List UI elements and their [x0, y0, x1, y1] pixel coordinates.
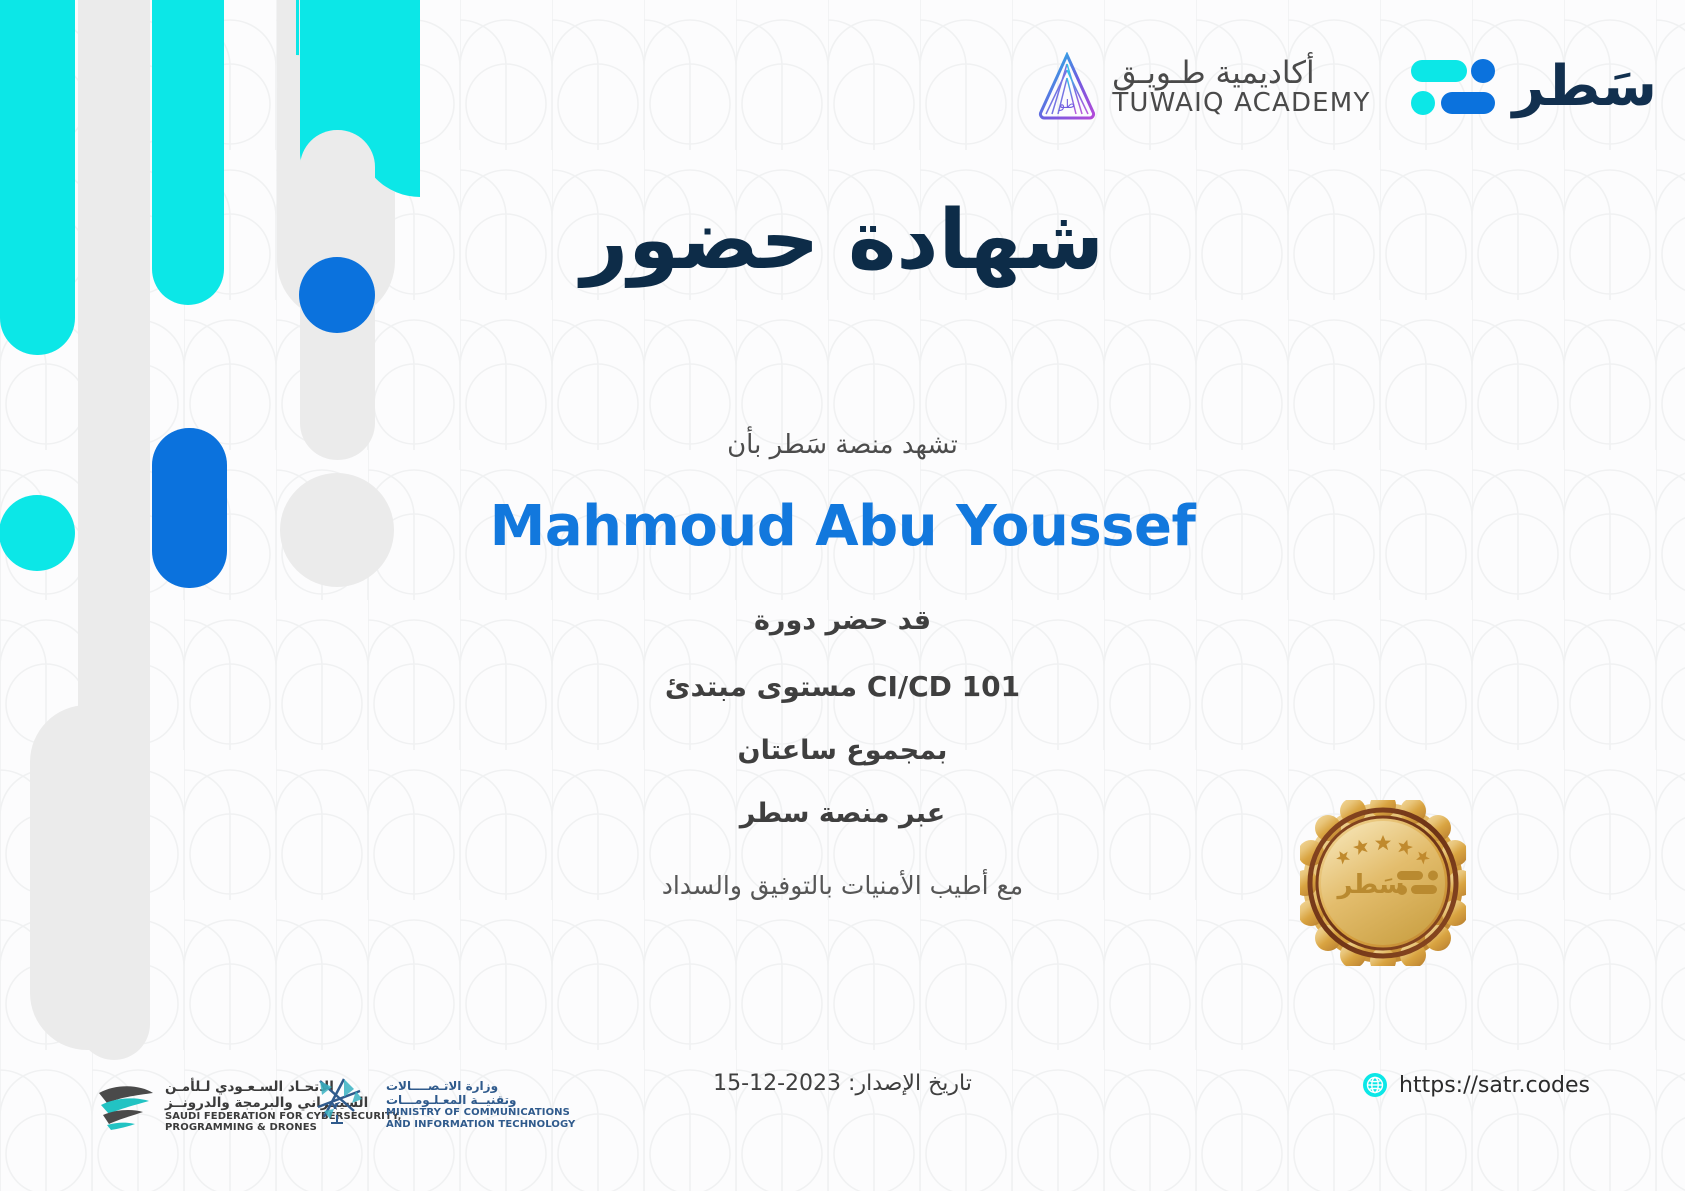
globe-icon [1362, 1072, 1388, 1098]
tuwaiq-english-name: TUWAIQ ACADEMY [1112, 90, 1370, 117]
satr-logo-wordmark: سَطر [1513, 59, 1657, 115]
site-link[interactable]: https://satr.codes [1362, 1072, 1590, 1098]
intro-line: تشهد منصة سَطر بأن [0, 430, 1685, 460]
federation-en-line2: PROGRAMMING & DRONES [165, 1122, 317, 1133]
course-name: CI/CD 101 مستوى مبتدئ [0, 670, 1685, 703]
tuwaiq-shield-emblem: طو [1036, 52, 1098, 122]
tuwaiq-academy-logo: أكاديمية طـويـق TUWAIQ ACADEMY [1036, 52, 1370, 122]
page-title-text: شهادة حضور [0, 196, 1685, 286]
satr-dots-bars-mark [1411, 56, 1495, 118]
footer: الاتحـاد السـعـودي لـلأمـن السيبـراني وا… [0, 1061, 1685, 1191]
site-url-text: https://satr.codes [1399, 1073, 1590, 1098]
ministry-en-line1: MINISTRY OF COMMUNICATIONS [386, 1107, 570, 1118]
seal-wordmark: سَطر [1335, 870, 1404, 900]
recipient-name: Mahmoud Abu Youssef [0, 494, 1685, 559]
page-title: شهادة حضور [0, 196, 1685, 286]
course-hours: بمجموع ساعتان [0, 735, 1685, 766]
ministry-en-line2: AND INFORMATION TECHNOLOGY [386, 1119, 575, 1130]
tuwaiq-arabic-name: أكاديمية طـويـق [1112, 58, 1314, 90]
header-logos: سَطر أكاديمية طـويـق TUWAIQ ACADEMY [1036, 52, 1657, 122]
gold-award-seal: سَطر [1300, 800, 1466, 966]
svg-text:طو: طو [1058, 97, 1075, 112]
attended-label: قد حضر دورة [0, 605, 1685, 636]
satr-logo: سَطر [1411, 56, 1657, 118]
certificate-page: سَطر أكاديمية طـويـق TUWAIQ ACADEMY [0, 0, 1685, 1191]
